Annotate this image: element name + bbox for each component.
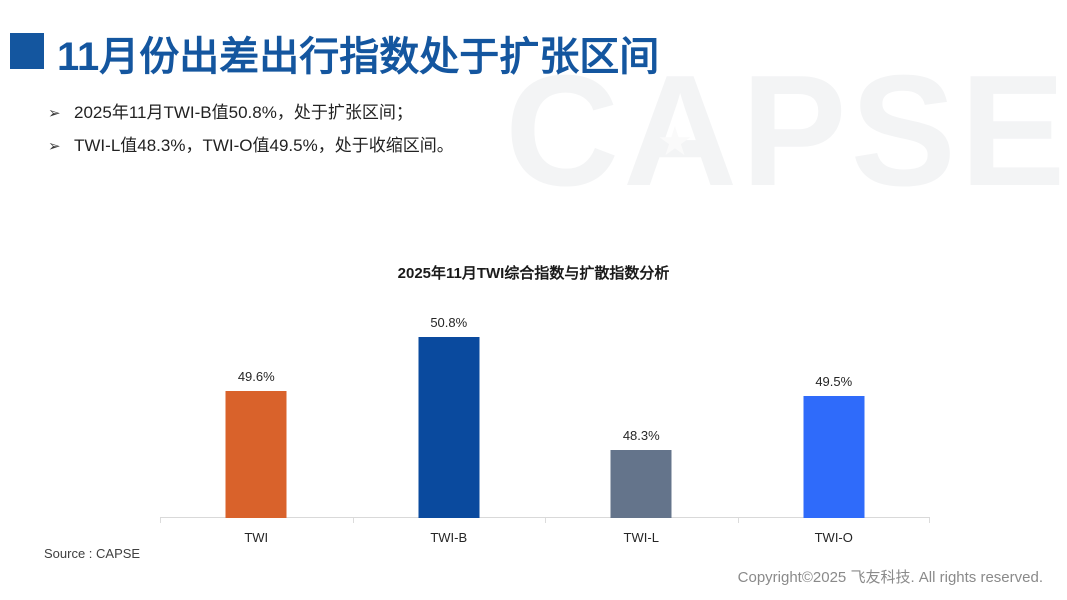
bar-twi-b[interactable] <box>418 337 479 518</box>
bullet-text: 2025年11月TWI-B值50.8%，处于扩张区间； <box>74 102 413 123</box>
chart-category-twi-o: 49.5%TWI-O <box>738 310 931 518</box>
chart-plot-area: 49.6%TWI50.8%TWI-B48.3%TWI-L49.5%TWI-O <box>160 310 930 518</box>
bar-value-label: 48.3% <box>623 428 660 443</box>
x-axis-tick <box>929 518 930 523</box>
slide-canvas: CAPSE ★ 11月份出差出行指数处于扩张区间 ➢ 2025年11月TWI-B… <box>0 0 1067 600</box>
x-axis-label-twi: TWI <box>160 530 353 545</box>
source-note: Source : CAPSE <box>44 546 140 561</box>
title-accent-square <box>10 33 44 69</box>
page-title: 11月份出差出行指数处于扩张区间 <box>57 24 659 82</box>
arrow-bullet-icon: ➢ <box>48 139 74 154</box>
chart-category-twi-b: 50.8%TWI-B <box>353 310 546 518</box>
arrow-bullet-icon: ➢ <box>48 106 74 121</box>
copyright-note: Copyright©2025 飞友科技. All rights reserved… <box>738 566 1043 587</box>
bar-twi[interactable] <box>226 391 287 518</box>
bullet-list: ➢ 2025年11月TWI-B值50.8%，处于扩张区间； ➢ TWI-L值48… <box>48 102 788 169</box>
chart-title: 2025年11月TWI综合指数与扩散指数分析 <box>0 262 1067 283</box>
bar-twi-l[interactable] <box>611 450 672 518</box>
chart-category-twi: 49.6%TWI <box>160 310 353 518</box>
x-axis-tick <box>545 518 546 523</box>
list-item: ➢ 2025年11月TWI-B值50.8%，处于扩张区间； <box>48 102 788 123</box>
x-axis-label-twi-o: TWI-O <box>738 530 931 545</box>
bar-value-label: 50.8% <box>430 315 467 330</box>
bullet-text: TWI-L值48.3%，TWI-O值49.5%，处于收缩区间。 <box>74 135 454 156</box>
chart-category-twi-l: 48.3%TWI-L <box>545 310 738 518</box>
x-axis-tick <box>353 518 354 523</box>
bar-value-label: 49.5% <box>815 374 852 389</box>
bar-value-label: 49.6% <box>238 369 275 384</box>
bar-chart: 2025年11月TWI综合指数与扩散指数分析 49.6%TWI50.8%TWI-… <box>0 250 1067 540</box>
x-axis-tick <box>738 518 739 523</box>
x-axis-label-twi-b: TWI-B <box>353 530 546 545</box>
x-axis-tick <box>160 518 161 523</box>
list-item: ➢ TWI-L值48.3%，TWI-O值49.5%，处于收缩区间。 <box>48 135 788 156</box>
bar-twi-o[interactable] <box>803 396 864 518</box>
x-axis-label-twi-l: TWI-L <box>545 530 738 545</box>
